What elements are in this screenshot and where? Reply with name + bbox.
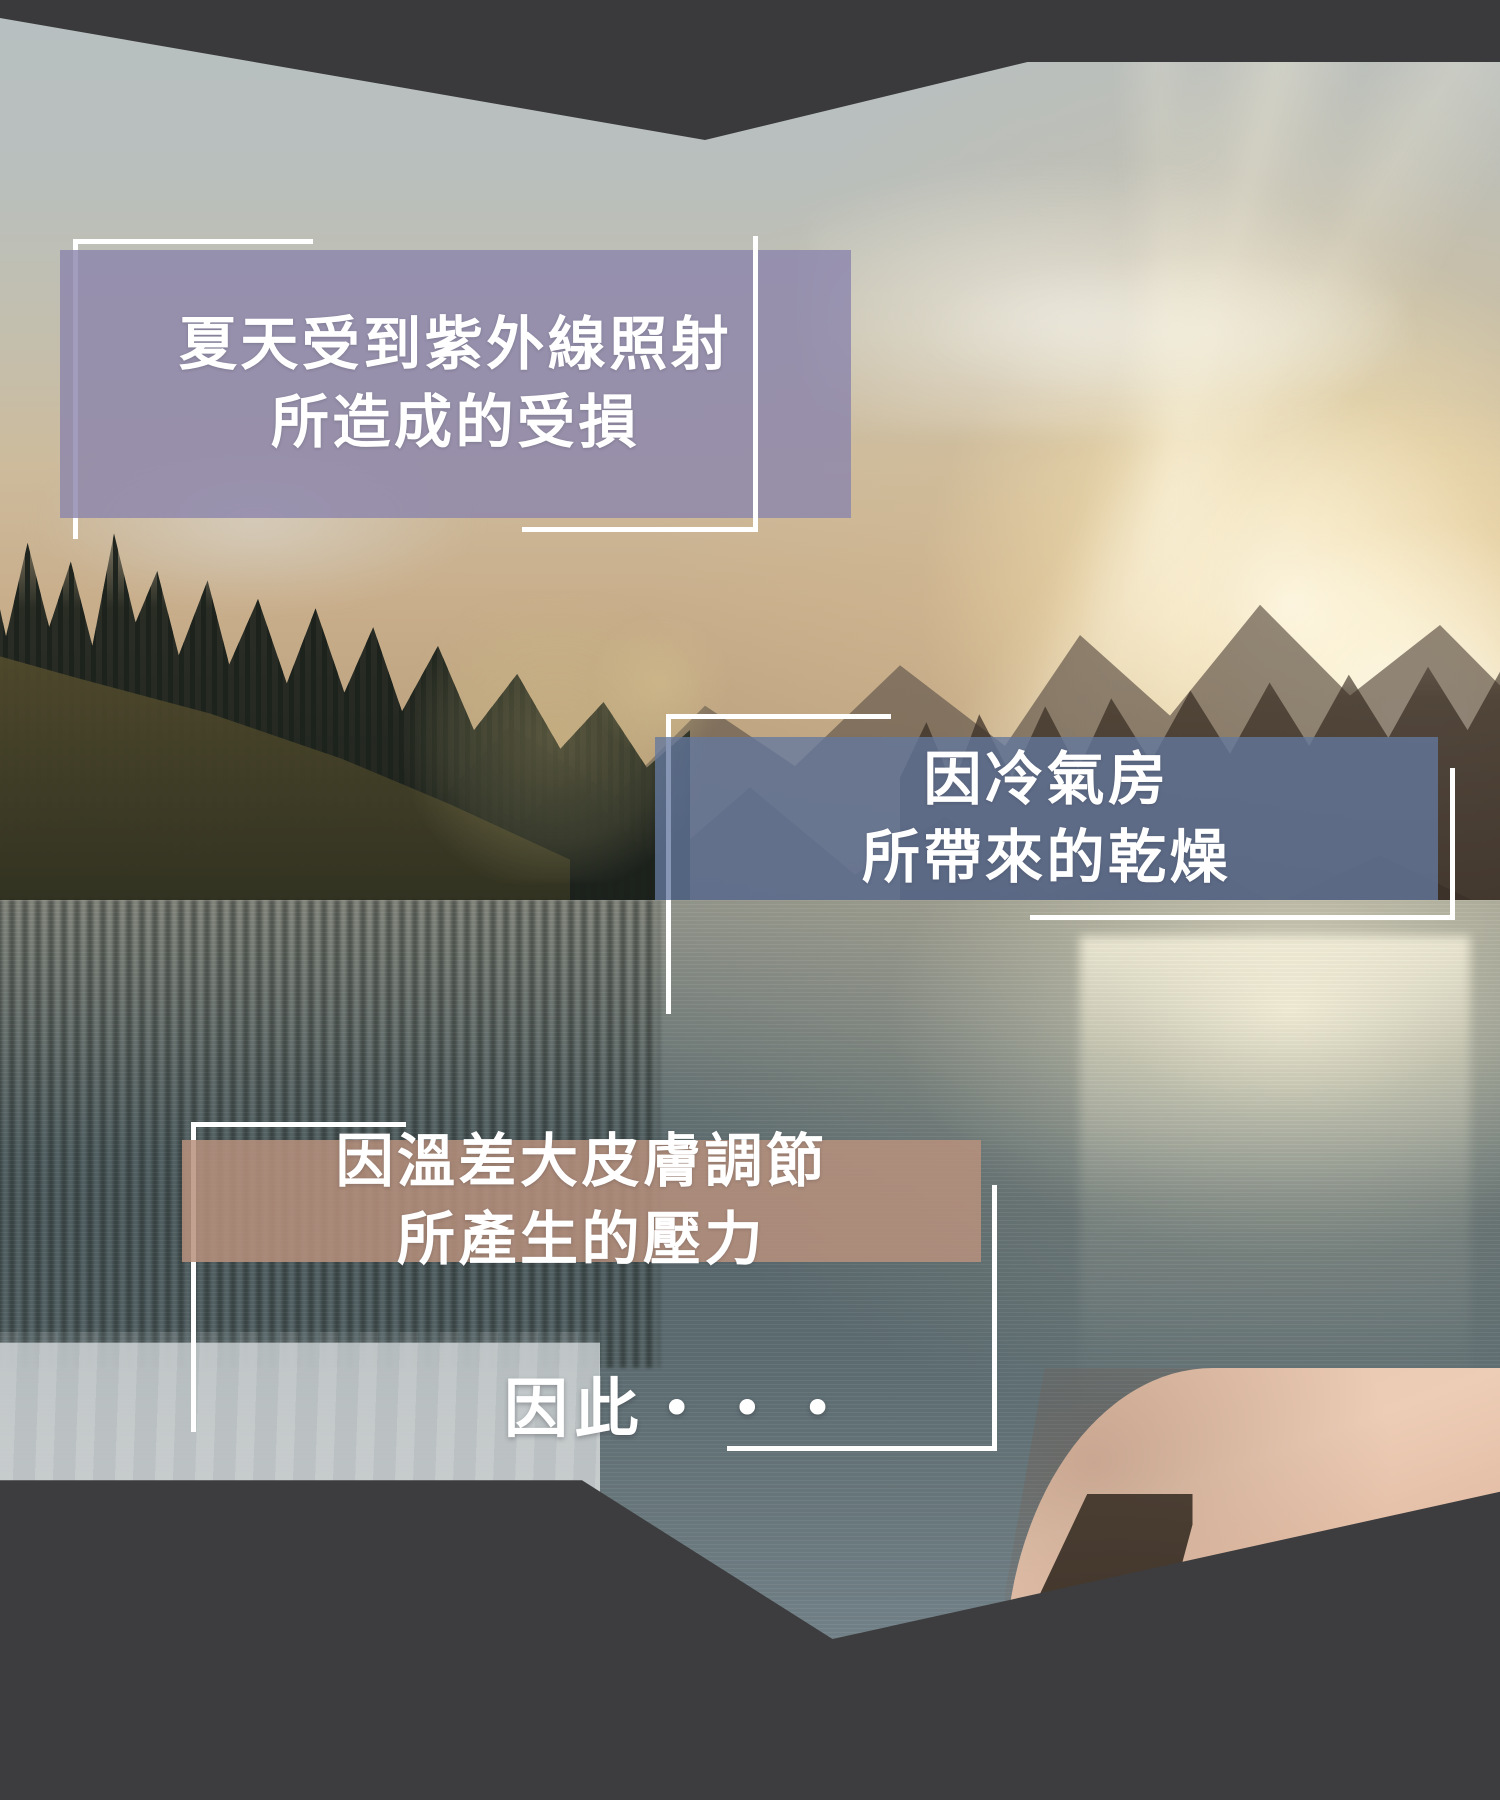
card-uv-damage-line-1: 夏天受到紫外線照射	[179, 306, 732, 384]
tagline-therefore: 因此・・・	[0, 1358, 1360, 1450]
card-uv-damage: 夏天受到紫外線照射 所造成的受損	[60, 250, 851, 518]
card-aircon-dryness-line-1: 因冷氣房	[924, 741, 1170, 819]
card-uv-damage-line-2: 所造成的受損	[271, 384, 640, 462]
card-uv-damage-panel: 夏天受到紫外線照射 所造成的受損	[60, 250, 851, 518]
poster-canvas: 夏天受到紫外線照射 所造成的受損 因冷氣房 所帶來的乾燥 因溫差大皮膚調節 所產…	[0, 0, 1500, 1800]
card-temperature-stress-panel: 因溫差大皮膚調節 所產生的壓力	[182, 1140, 981, 1262]
card-temperature-stress-line-1: 因溫差大皮膚調節	[336, 1123, 828, 1201]
card-temperature-stress-line-2: 所產生的壓力	[397, 1201, 766, 1279]
card-temperature-stress: 因溫差大皮膚調節 所產生的壓力	[182, 1010, 981, 1262]
card-aircon-dryness: 因冷氣房 所帶來的乾燥	[655, 645, 1438, 900]
card-aircon-dryness-panel: 因冷氣房 所帶來的乾燥	[655, 737, 1438, 900]
card-aircon-dryness-line-2: 所帶來的乾燥	[862, 819, 1231, 897]
